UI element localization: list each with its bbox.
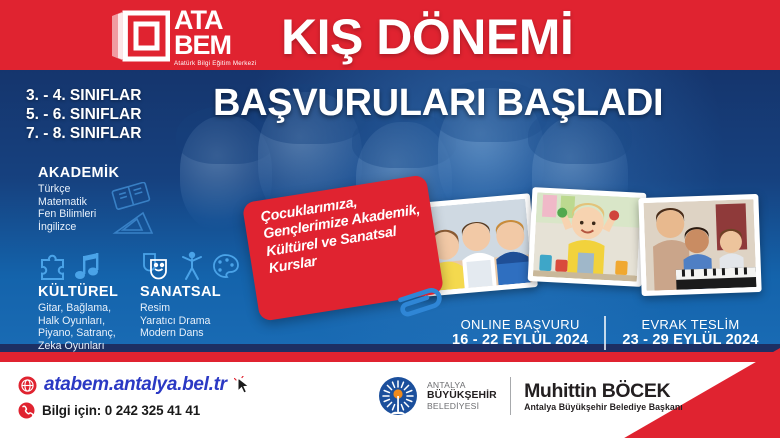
grade-item: 7. - 8. SINIFLAR [26, 124, 141, 143]
dates-divider [604, 316, 606, 350]
date-label: ONLINE BAŞVURU [452, 317, 588, 332]
kulturel-icons [38, 252, 101, 282]
mayor-block: Muhittin BÖCEK Antalya Büyükşehir Beledi… [524, 381, 683, 412]
category-item: Gitar, Bağlama, [38, 302, 118, 315]
date-label: EVRAK TESLİM [622, 317, 758, 332]
category-title: SANATSAL [140, 284, 221, 300]
municipality-line-3: BELEDİYESİ [427, 401, 497, 412]
globe-icon [18, 376, 37, 395]
mayor-name: Muhittin BÖCEK [524, 381, 683, 402]
page-title: KIŞ DÖNEMİ [281, 8, 573, 66]
category-item: Piyano, Satranç, [38, 327, 118, 340]
municipality-block: ANTALYA BÜYÜKŞEHİR BELEDİYESİ Muhittin B… [378, 376, 683, 416]
municipality-name: ANTALYA BÜYÜKŞEHİR BELEDİYESİ [427, 380, 497, 412]
logo-line-bem: BEM [174, 33, 278, 58]
category-item: Matematik [38, 196, 119, 209]
sanatsal-icons [140, 250, 240, 282]
category-item: Resim [140, 302, 221, 315]
music-note-icon [73, 252, 101, 282]
phone-number[interactable]: Bilgi için: 0 242 325 41 41 [42, 403, 200, 418]
category-kulturel: KÜLTÜREL Gitar, Bağlama, Halk Oyunları, … [38, 284, 118, 352]
theater-masks-icon [140, 250, 174, 282]
phone-icon [18, 402, 35, 419]
category-item: Fen Bilimleri [38, 208, 119, 221]
category-akademik: AKADEMİK Türkçe Matematik Fen Bilimleri … [38, 165, 119, 233]
dancer-icon [179, 250, 205, 282]
poster-root: ATA BEM Atatürk Bilgi Eğitim Merkezi KIŞ… [0, 0, 780, 438]
category-item: Zeka Oyunları [38, 340, 118, 353]
phone-row[interactable]: Bilgi için: 0 242 325 41 41 [18, 402, 200, 419]
antalya-sun-palm-emblem-icon [378, 376, 418, 416]
mouse-cursor-icon [234, 376, 252, 395]
photo-piano-lesson [638, 194, 761, 296]
date-value: 16 - 22 EYLÜL 2024 [452, 332, 588, 349]
dates-row: ONLINE BAŞVURU 16 - 22 EYLÜL 2024 EVRAK … [452, 316, 759, 350]
grade-item: 5. - 6. SINIFLAR [26, 105, 141, 124]
page-subtitle: BAŞVURULARI BAŞLADI [213, 82, 663, 125]
date-document-submission: EVRAK TESLİM 23 - 29 EYLÜL 2024 [622, 317, 758, 349]
municipality-line-2: BÜYÜKŞEHİR [427, 391, 497, 402]
atabem-square-logo-icon [108, 10, 170, 62]
category-item: Halk Oyunları, [38, 315, 118, 328]
atabem-logo: ATA BEM Atatürk Bilgi Eğitim Merkezi [108, 8, 276, 68]
mayor-role: Antalya Büyükşehir Belediye Başkanı [524, 402, 683, 412]
category-item: Modern Dans [140, 327, 221, 340]
grade-list: 3. - 4. SINIFLAR 5. - 6. SINIFLAR 7. - 8… [26, 86, 141, 143]
red-divider-stripe [0, 352, 780, 362]
photo-child-painting [528, 187, 647, 287]
municipality-divider [510, 377, 511, 415]
date-online-application: ONLINE BAŞVURU 16 - 22 EYLÜL 2024 [452, 317, 588, 349]
grade-item: 3. - 4. SINIFLAR [26, 86, 141, 105]
category-item: Yaratıcı Drama [140, 315, 221, 328]
category-title: AKADEMİK [38, 165, 119, 181]
website-row[interactable]: atabem.antalya.bel.tr [18, 374, 252, 396]
puzzle-piece-icon [38, 254, 68, 282]
category-sanatsal: SANATSAL Resim Yaratıcı Drama Modern Dan… [140, 284, 221, 340]
logo-subtitle: Atatürk Bilgi Eğitim Merkezi [174, 60, 278, 67]
paint-palette-icon [210, 252, 240, 282]
category-item: İngilizce [38, 221, 119, 234]
category-item: Türkçe [38, 183, 119, 196]
category-title: KÜLTÜREL [38, 284, 118, 300]
date-value: 23 - 29 EYLÜL 2024 [622, 332, 758, 349]
website-link[interactable]: atabem.antalya.bel.tr [44, 374, 227, 396]
